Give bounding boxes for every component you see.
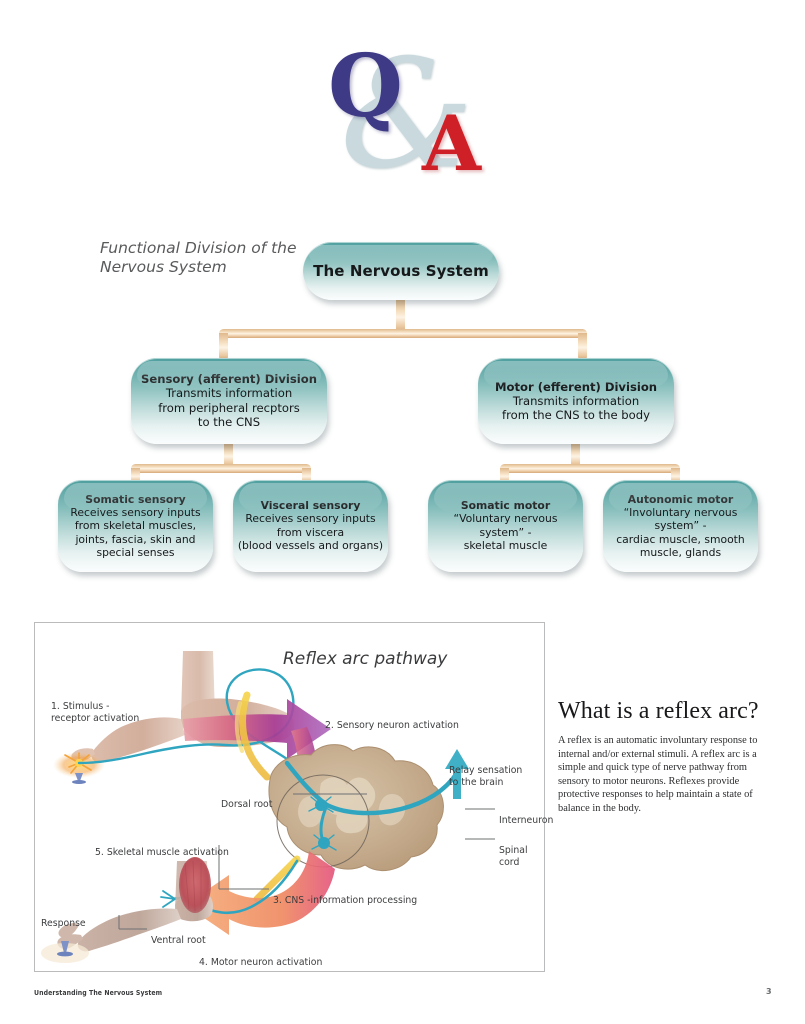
explainer-heading: What is a reflex arc?	[558, 698, 776, 725]
flow-node-title: Sensory (afferent) Division	[141, 372, 317, 386]
flow-node-title: Somatic sensory	[85, 493, 185, 506]
flow-node-body: “Voluntary nervous system” - skeletal mu…	[454, 512, 558, 552]
label-step-5: 5. Skeletal muscle activation	[95, 835, 229, 859]
flow-node-nervous-system[interactable]: The Nervous System	[303, 242, 499, 300]
flow-node-title: Visceral sensory	[261, 499, 361, 512]
reflex-arc-panel: Reflex arc pathway	[34, 622, 545, 972]
letter-a-glyph: A	[422, 106, 481, 182]
flow-node-body: Transmits information from peripheral re…	[158, 386, 300, 430]
flow-node-body: “Involuntary nervous system” - cardiac m…	[616, 506, 745, 560]
footer-book-title: Understanding The Nervous System	[34, 988, 162, 997]
label-step-3: 3. CNS -information processing	[273, 883, 417, 907]
connector-level1-bus	[219, 329, 587, 338]
flow-node-body: Receives sensory inputs from skeletal mu…	[70, 506, 200, 560]
label-spinal-cord: Spinal cord	[499, 833, 544, 869]
nervous-system-flowchart: Functional Division of the Nervous Syste…	[0, 215, 805, 595]
flow-node-somatic-sensory[interactable]: Somatic sensory Receives sensory inputs …	[58, 480, 213, 572]
connector-motor-bus	[500, 464, 680, 473]
label-step-2: 2. Sensory neuron activation	[325, 708, 459, 732]
reflex-arc-explainer: What is a reflex arc? A reflex is an aut…	[558, 698, 776, 816]
label-ventral-root: Ventral root	[151, 923, 206, 947]
label-interneuron: Interneuron	[499, 803, 553, 827]
flow-node-body: Receives sensory inputs from viscera (bl…	[238, 512, 383, 552]
footer-page-number: 3	[766, 987, 772, 996]
spinal-cord-figure	[269, 745, 443, 871]
label-response: Response	[41, 906, 86, 930]
label-step-1: 1. Stimulus - receptor activation	[51, 689, 139, 725]
flow-node-somatic-motor[interactable]: Somatic motor “Voluntary nervous system”…	[428, 480, 583, 572]
qa-logo: & Q A	[322, 38, 492, 188]
receptor-spark-icon	[53, 752, 105, 784]
label-relay-to-brain: Relay sensation to the brain	[449, 753, 522, 789]
flow-node-title: Autonomic motor	[628, 493, 733, 506]
reflex-arc-illustration	[35, 623, 544, 971]
flow-node-body: Transmits information from the CNS to th…	[502, 394, 650, 423]
letter-q-glyph: Q	[328, 44, 403, 130]
label-step-4: 4. Motor neuron activation	[199, 945, 322, 969]
connector-sensory-drop	[219, 333, 228, 361]
label-dorsal-root: Dorsal root	[221, 787, 272, 811]
flow-node-sensory-division[interactable]: Sensory (afferent) Division Transmits in…	[131, 358, 327, 444]
flow-node-title: Motor (efferent) Division	[495, 380, 657, 394]
flow-node-visceral-sensory[interactable]: Visceral sensory Receives sensory inputs…	[233, 480, 388, 572]
explainer-body: A reflex is an automatic involuntary res…	[558, 734, 776, 816]
flowchart-caption: Functional Division of the Nervous Syste…	[100, 239, 300, 277]
flow-node-title: The Nervous System	[313, 262, 489, 280]
connector-motor-drop	[578, 333, 587, 361]
flow-node-autonomic-motor[interactable]: Autonomic motor “Involuntary nervous sys…	[603, 480, 758, 572]
page-root: & Q A Functional Division of the Nervous…	[0, 0, 805, 1024]
flow-node-motor-division[interactable]: Motor (efferent) Division Transmits info…	[478, 358, 674, 444]
flow-node-title: Somatic motor	[461, 499, 550, 512]
connector-sensory-bus	[131, 464, 311, 473]
